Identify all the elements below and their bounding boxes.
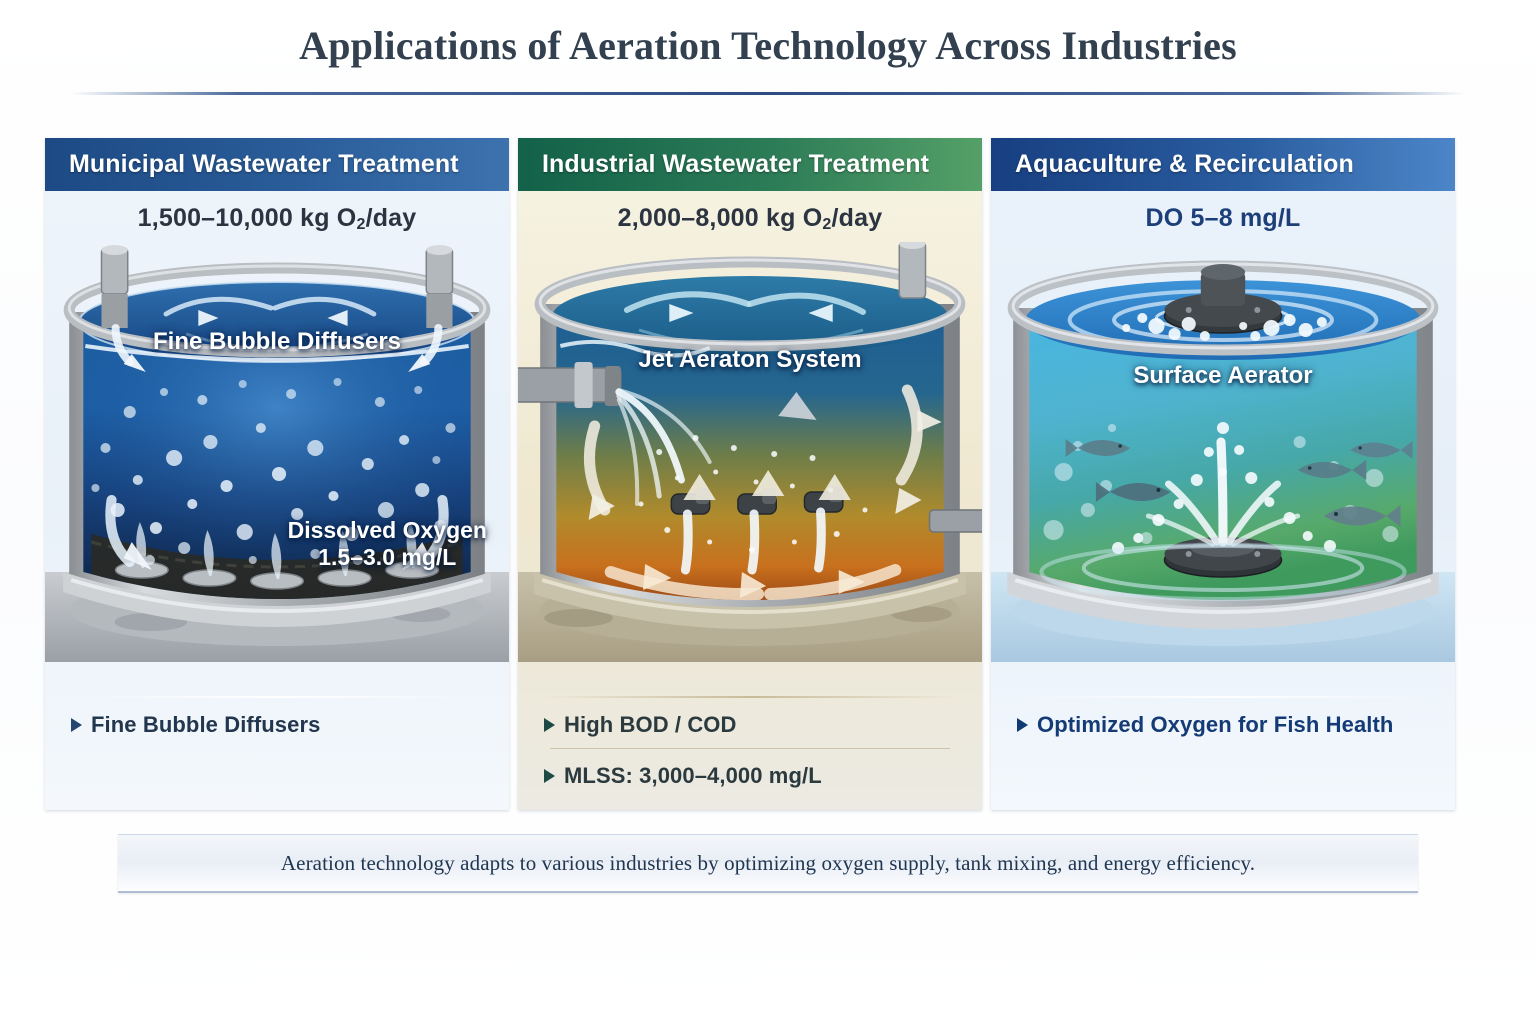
do-line-2: 1.5–3.0 mg/L [288,544,487,570]
metric-prefix: DO 5–8 mg/L [1145,204,1300,232]
panel-header-aquaculture: Aquaculture & Recirculation [991,138,1455,191]
panel-bullets-industrial: High BOD / COD MLSS: 3,000–4,000 mg/L [518,678,982,810]
metric-prefix: 2,000–8,000 kg O [618,204,823,232]
panel-header-municipal: Municipal Wastewater Treatment [45,138,509,191]
bullet-divider [1017,696,1429,698]
metric-prefix: 1,500–10,000 kg O [138,204,357,232]
bullet-item[interactable]: High BOD / COD [544,712,956,738]
footer-text: Aeration technology adapts to various in… [281,851,1255,876]
do-line-1: Dissolved Oxygen [288,517,487,543]
tank-illustration-aquaculture: Surface Aerator [991,242,1455,662]
inlet-pipe-left [101,245,127,328]
tank-illustration-industrial: Jet Aeraton System [518,242,982,662]
metric-subscript: 2 [356,216,365,233]
panel-industrial[interactable]: Industrial Wastewater Treatment 2,000–8,… [518,138,982,810]
triangle-bullet-icon [71,718,82,732]
tank-svg-municipal [45,242,509,662]
tank-svg-aquaculture [991,242,1455,662]
tank-svg-industrial [518,242,982,662]
panel-header-industrial: Industrial Wastewater Treatment [518,138,982,191]
panel-header-label: Aquaculture & Recirculation [1015,150,1354,179]
panel-row: Municipal Wastewater Treatment 1,500–10,… [45,138,1455,810]
bullet-item[interactable]: MLSS: 3,000–4,000 mg/L [544,763,956,789]
infographic-canvas: Applications of Aeration Technology Acro… [0,0,1536,1024]
triangle-bullet-icon [1017,718,1028,732]
panel-bullets-municipal: Fine Bubble Diffusers [45,678,509,810]
title-divider [70,92,1466,95]
metric-subscript: 2 [822,216,831,233]
panel-metric-aquaculture: DO 5–8 mg/L [991,191,1455,247]
panel-aquaculture[interactable]: Aquaculture & Recirculation DO 5–8 mg/L [991,138,1455,810]
panel-header-label: Industrial Wastewater Treatment [542,150,929,179]
bullet-divider [71,696,483,698]
page-title: Applications of Aeration Technology Acro… [299,22,1237,69]
bullet-item[interactable]: Optimized Oxygen for Fish Health [1017,712,1429,738]
panel-metric-municipal: 1,500–10,000 kg O2/day [45,191,509,247]
bullet-label: High BOD / COD [564,712,737,738]
page-title-wrap: Applications of Aeration Technology Acro… [0,22,1536,69]
tank-illustration-municipal: Fine Bubble Diffusers Dissolved Oxygen 1… [45,242,509,662]
triangle-bullet-icon [544,718,555,732]
panel-header-label: Municipal Wastewater Treatment [69,150,459,179]
footer-caption: Aeration technology adapts to various in… [118,834,1418,893]
triangle-bullet-icon [544,769,555,783]
feed-pipe-left [518,362,621,408]
panel-bullets-aquaculture: Optimized Oxygen for Fish Health [991,678,1455,810]
bullet-divider [544,696,956,698]
bullet-separator [550,748,950,749]
metric-suffix: /day [832,204,883,232]
dissolved-oxygen-callout: Dissolved Oxygen 1.5–3.0 mg/L [288,517,487,570]
inlet-pipe-right [426,245,452,328]
outlet-pipe-right [930,510,982,532]
riser-pipe [899,242,925,298]
panel-metric-industrial: 2,000–8,000 kg O2/day [518,191,982,247]
panel-municipal[interactable]: Municipal Wastewater Treatment 1,500–10,… [45,138,509,810]
bullet-label: MLSS: 3,000–4,000 mg/L [564,763,822,789]
bullet-label: Fine Bubble Diffusers [91,712,320,738]
bullet-item[interactable]: Fine Bubble Diffusers [71,712,483,738]
bullet-label: Optimized Oxygen for Fish Health [1037,712,1393,738]
metric-suffix: /day [366,204,417,232]
